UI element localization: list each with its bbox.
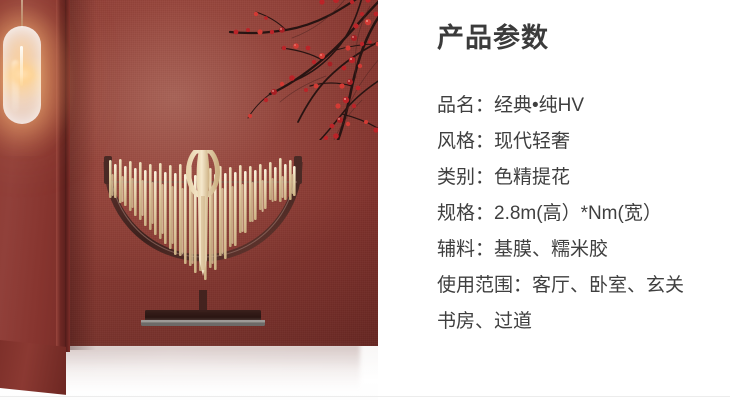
spec-row-style: 风格：现代轻奢: [437, 124, 727, 160]
spec-list: 品名：经典•纯HV 风格：现代轻奢 类别：色精提花 规格：2.8m(高）*Nm(…: [437, 88, 727, 340]
spec-panel: 产品参数 品名：经典•纯HV 风格：现代轻奢 类别：色精提花 规格：2.8m(高…: [378, 0, 730, 400]
product-scene-photo: [0, 0, 378, 400]
page-title: 产品参数: [437, 16, 549, 55]
wall-floor-shadow: [60, 344, 360, 390]
spec-row-size: 规格：2.8m(高）*Nm(宽）: [437, 196, 727, 232]
spec-row-usage: 使用范围：客厅、卧室、玄关: [437, 268, 727, 304]
lamp-filament: [20, 46, 23, 86]
sculpture-base: [141, 290, 265, 326]
plum-blossom-svg: [226, 0, 378, 140]
spec-row-name: 品名：经典•纯HV: [437, 88, 727, 124]
spec-row-usage-cont: 书房、过道: [437, 304, 727, 340]
arc-sculpture: [95, 150, 311, 350]
bottom-divider: [0, 396, 730, 397]
product-spec-banner: 产品参数 品名：经典•纯HV 风格：现代轻奢 类别：色精提花 规格：2.8m(高…: [0, 0, 730, 400]
foreground-wall-edge: [56, 0, 65, 378]
figure-shadow: [201, 196, 205, 270]
spec-row-category: 类别：色精提花: [437, 160, 727, 196]
column-cast-shadow: [70, 0, 96, 350]
foreground-wall-base: [0, 340, 66, 395]
lamp-cord: [21, 0, 23, 28]
wall-gap-shadow: [65, 0, 70, 352]
spec-row-material: 辅料：基膜、糯米胶: [437, 232, 727, 268]
plum-blossom-branch: [226, 0, 378, 140]
arc-sculpture-svg: [95, 150, 311, 350]
